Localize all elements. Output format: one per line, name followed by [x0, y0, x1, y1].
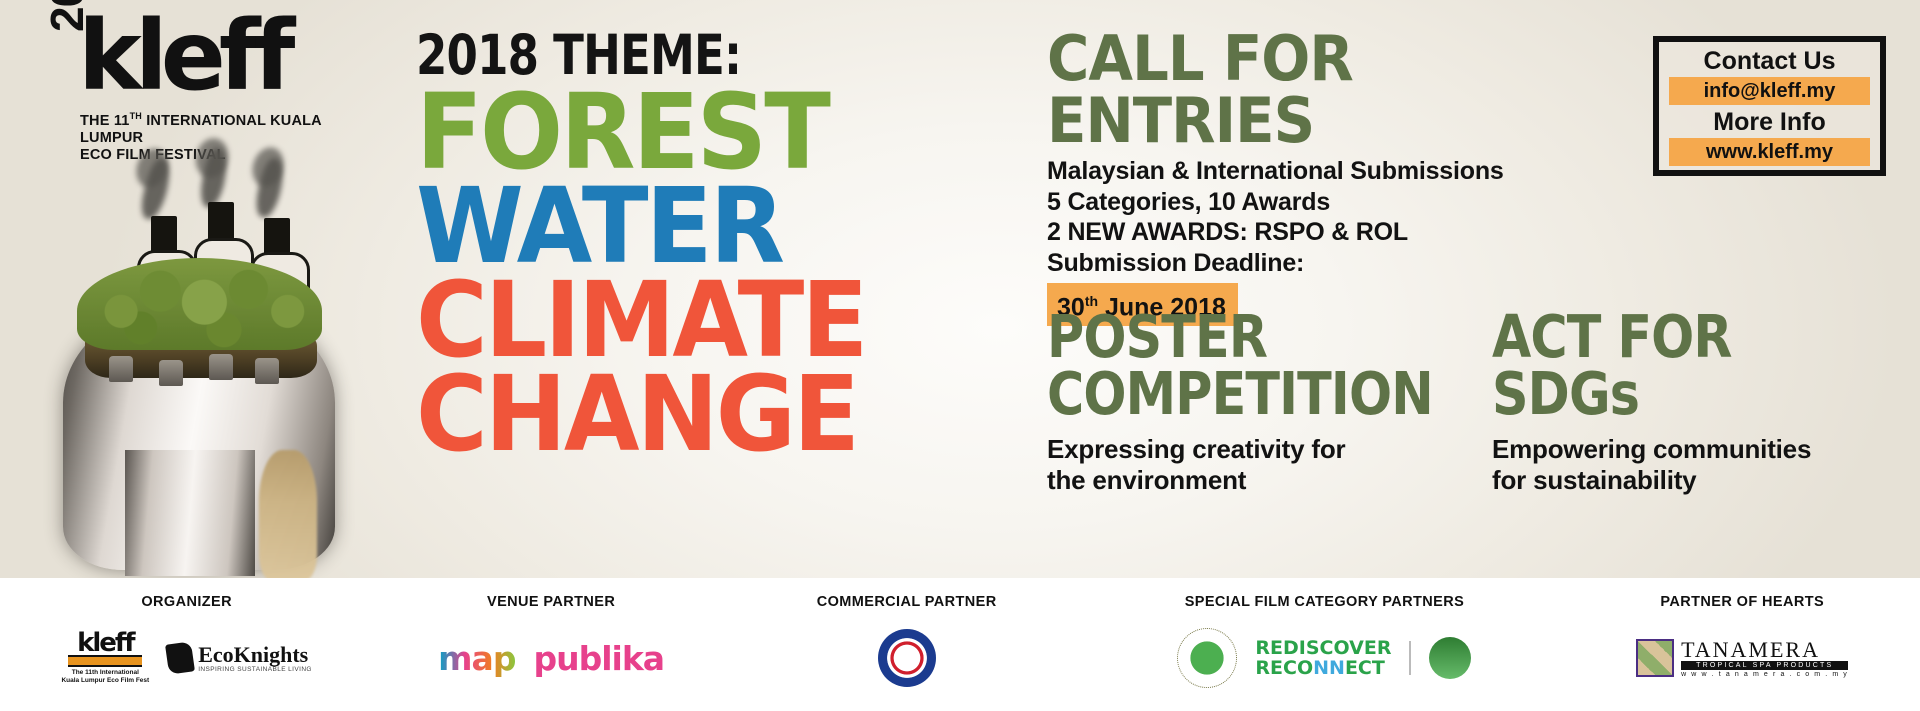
poster-banner: 2018 kleff THE 11th INTERNATIONAL KUALA …	[0, 0, 1920, 578]
commercial-partner-logos	[878, 632, 936, 684]
cfe-line-new-awards: 2 NEW AWARDS: RSPO & ROL	[1047, 217, 1607, 248]
organizer-logos: kleff The 11th International Kuala Lumpu…	[61, 632, 311, 684]
ecoknights-tagline: INSPIRING SUSTAINABLE LIVING	[198, 666, 312, 673]
tanamera-logo: TANAMERA TROPICAL SPA PRODUCTS w w w . t…	[1636, 639, 1848, 678]
kleff-logo: 2018 kleff THE 11th INTERNATIONAL KUALA …	[30, 14, 330, 154]
ecoknights-text: EcoKnights INSPIRING SUSTAINABLE LIVING	[198, 644, 312, 673]
forearm-shape	[125, 450, 255, 576]
partner-group-commercial: COMMERCIAL PARTNER	[729, 578, 1085, 711]
kleff-2018-poster: 2018 kleff THE 11th INTERNATIONAL KUALA …	[0, 0, 1920, 711]
waterfall-stream	[259, 450, 317, 580]
rediscover-reconnect-logo: REDISCOVER RECONNECT	[1255, 638, 1391, 678]
fist-forest-smokestack-illustration	[55, 150, 355, 570]
theme-word-change: CHANGE	[416, 369, 961, 459]
partner-label-special-film-category: SPECIAL FILM CATEGORY PARTNERS	[1185, 594, 1464, 610]
act-for-sdgs-block: ACT FOR SDGs Empowering communities for …	[1492, 308, 1912, 496]
special-film-category-logos: REDISCOVER RECONNECT	[1177, 632, 1471, 684]
act-for-sdgs-sub-line1: Empowering communities	[1492, 434, 1811, 464]
publika-logo: publika	[533, 639, 664, 678]
kleff-partner-logo: kleff The 11th International Kuala Lumpu…	[61, 632, 149, 685]
partner-label-organizer: ORGANIZER	[141, 594, 232, 610]
partner-bar: ORGANIZER kleff The 11th International K…	[0, 578, 1920, 711]
shield-icon	[165, 641, 195, 674]
tanamera-url: w w w . t a n a m e r a . c o m . m y	[1681, 671, 1848, 678]
cfe-line-submissions: Malaysian & International Submissions	[1047, 156, 1607, 187]
partner-of-hearts-logos: TANAMERA TROPICAL SPA PRODUCTS w w w . t…	[1636, 632, 1848, 684]
tanamera-wordmark: TANAMERA	[1681, 639, 1848, 661]
partner-label-partner-of-hearts: PARTNER OF HEARTS	[1660, 594, 1824, 610]
contact-email[interactable]: info@kleff.my	[1669, 77, 1870, 105]
theme-word-climate: CLIMATE	[416, 275, 961, 365]
reconnect-part1: RECO	[1255, 657, 1313, 679]
theme-block: 2018 THEME: FOREST WATER CLIMATE CHANGE	[416, 28, 996, 459]
cfe-line-categories: 5 Categories, 10 Awards	[1047, 187, 1607, 218]
reconnect-word: RECONNECT	[1255, 658, 1391, 678]
contact-heading: Contact Us	[1669, 47, 1870, 76]
poster-competition-sub-line2: the environment	[1047, 465, 1246, 495]
logo-wordmark: kleff	[78, 8, 288, 104]
kleff-partner-wordmark: kleff	[77, 632, 133, 654]
tree-stump-icon	[209, 354, 233, 380]
act-for-sdgs-title-line1: ACT FOR	[1492, 308, 1853, 365]
ecoknights-wordmark: EcoKnights	[198, 644, 312, 666]
reconnect-part3: ECT	[1345, 657, 1385, 679]
tanamera-text: TANAMERA TROPICAL SPA PRODUCTS w w w . t…	[1681, 639, 1848, 678]
rspo-logo	[1177, 628, 1237, 688]
partner-group-special-film-category: SPECIAL FILM CATEGORY PARTNERS REDISCOVE…	[1084, 578, 1564, 711]
venue-partner-logos: map publika	[438, 632, 664, 684]
logo-subtitle-line1: THE 11th INTERNATIONAL KUALA LUMPUR	[80, 113, 321, 146]
ecoknights-logo: EcoKnights INSPIRING SUSTAINABLE LIVING	[167, 643, 312, 673]
theme-word-forest: FOREST	[416, 87, 961, 177]
partner-group-partner-of-hearts: PARTNER OF HEARTS TANAMERA TROPICAL SPA …	[1564, 578, 1920, 711]
map-logo: map	[438, 639, 515, 678]
contact-us-box: Contact Us info@kleff.my More Info www.k…	[1653, 36, 1886, 176]
rediscover-word: REDISCOVER	[1255, 638, 1391, 658]
kleff-partner-tagline-line2: Kuala Lumpur Eco Film Fest	[61, 677, 149, 684]
partner-label-commercial: COMMERCIAL PARTNER	[817, 594, 997, 610]
contact-website-link[interactable]: www.kleff.my	[1669, 138, 1870, 166]
act-for-sdgs-sub-line2: for sustainability	[1492, 465, 1696, 495]
kleff-logo-filmstrip	[68, 655, 142, 667]
poster-competition-sub-line1: Expressing creativity for	[1047, 434, 1345, 464]
poster-competition-title-line2: COMPETITION	[1047, 365, 1391, 422]
call-for-entries-block: CALL FOR ENTRIES Malaysian & Internation…	[1047, 28, 1607, 326]
tree-stump-icon	[159, 360, 183, 386]
theme-word-water: WATER	[416, 181, 961, 271]
logo-divider	[1409, 641, 1411, 675]
call-for-entries-details: Malaysian & International Submissions 5 …	[1047, 156, 1607, 278]
tanamera-emblem-icon	[1636, 639, 1674, 677]
poster-competition-subtitle: Expressing creativity for the environmen…	[1047, 434, 1447, 496]
call-for-entries-title: CALL FOR ENTRIES	[1047, 28, 1568, 152]
river-of-life-logo	[1429, 637, 1471, 679]
partner-group-organizer: ORGANIZER kleff The 11th International K…	[0, 578, 373, 711]
poster-competition-block: POSTER COMPETITION Expressing creativity…	[1047, 308, 1447, 496]
partner-label-venue: VENUE PARTNER	[487, 594, 615, 610]
act-for-sdgs-title-line2: SDGs	[1492, 365, 1853, 422]
partner-group-venue: VENUE PARTNER map publika	[373, 578, 729, 711]
reconnect-part2: NN	[1313, 657, 1345, 679]
tree-stump-icon	[255, 358, 279, 384]
more-info-heading: More Info	[1669, 108, 1870, 137]
kleff-partner-tagline-line1: The 11th International	[72, 669, 139, 676]
kl-malay-chamber-of-commerce-logo	[878, 629, 936, 687]
tree-stump-icon	[109, 356, 133, 382]
act-for-sdgs-subtitle: Empowering communities for sustainabilit…	[1492, 434, 1912, 496]
tanamera-tagline: TROPICAL SPA PRODUCTS	[1681, 661, 1848, 670]
kleff-partner-tagline: The 11th International Kuala Lumpur Eco …	[61, 669, 149, 685]
poster-competition-title-line1: POSTER	[1047, 308, 1391, 365]
cfe-line-deadline-label: Submission Deadline:	[1047, 248, 1607, 279]
